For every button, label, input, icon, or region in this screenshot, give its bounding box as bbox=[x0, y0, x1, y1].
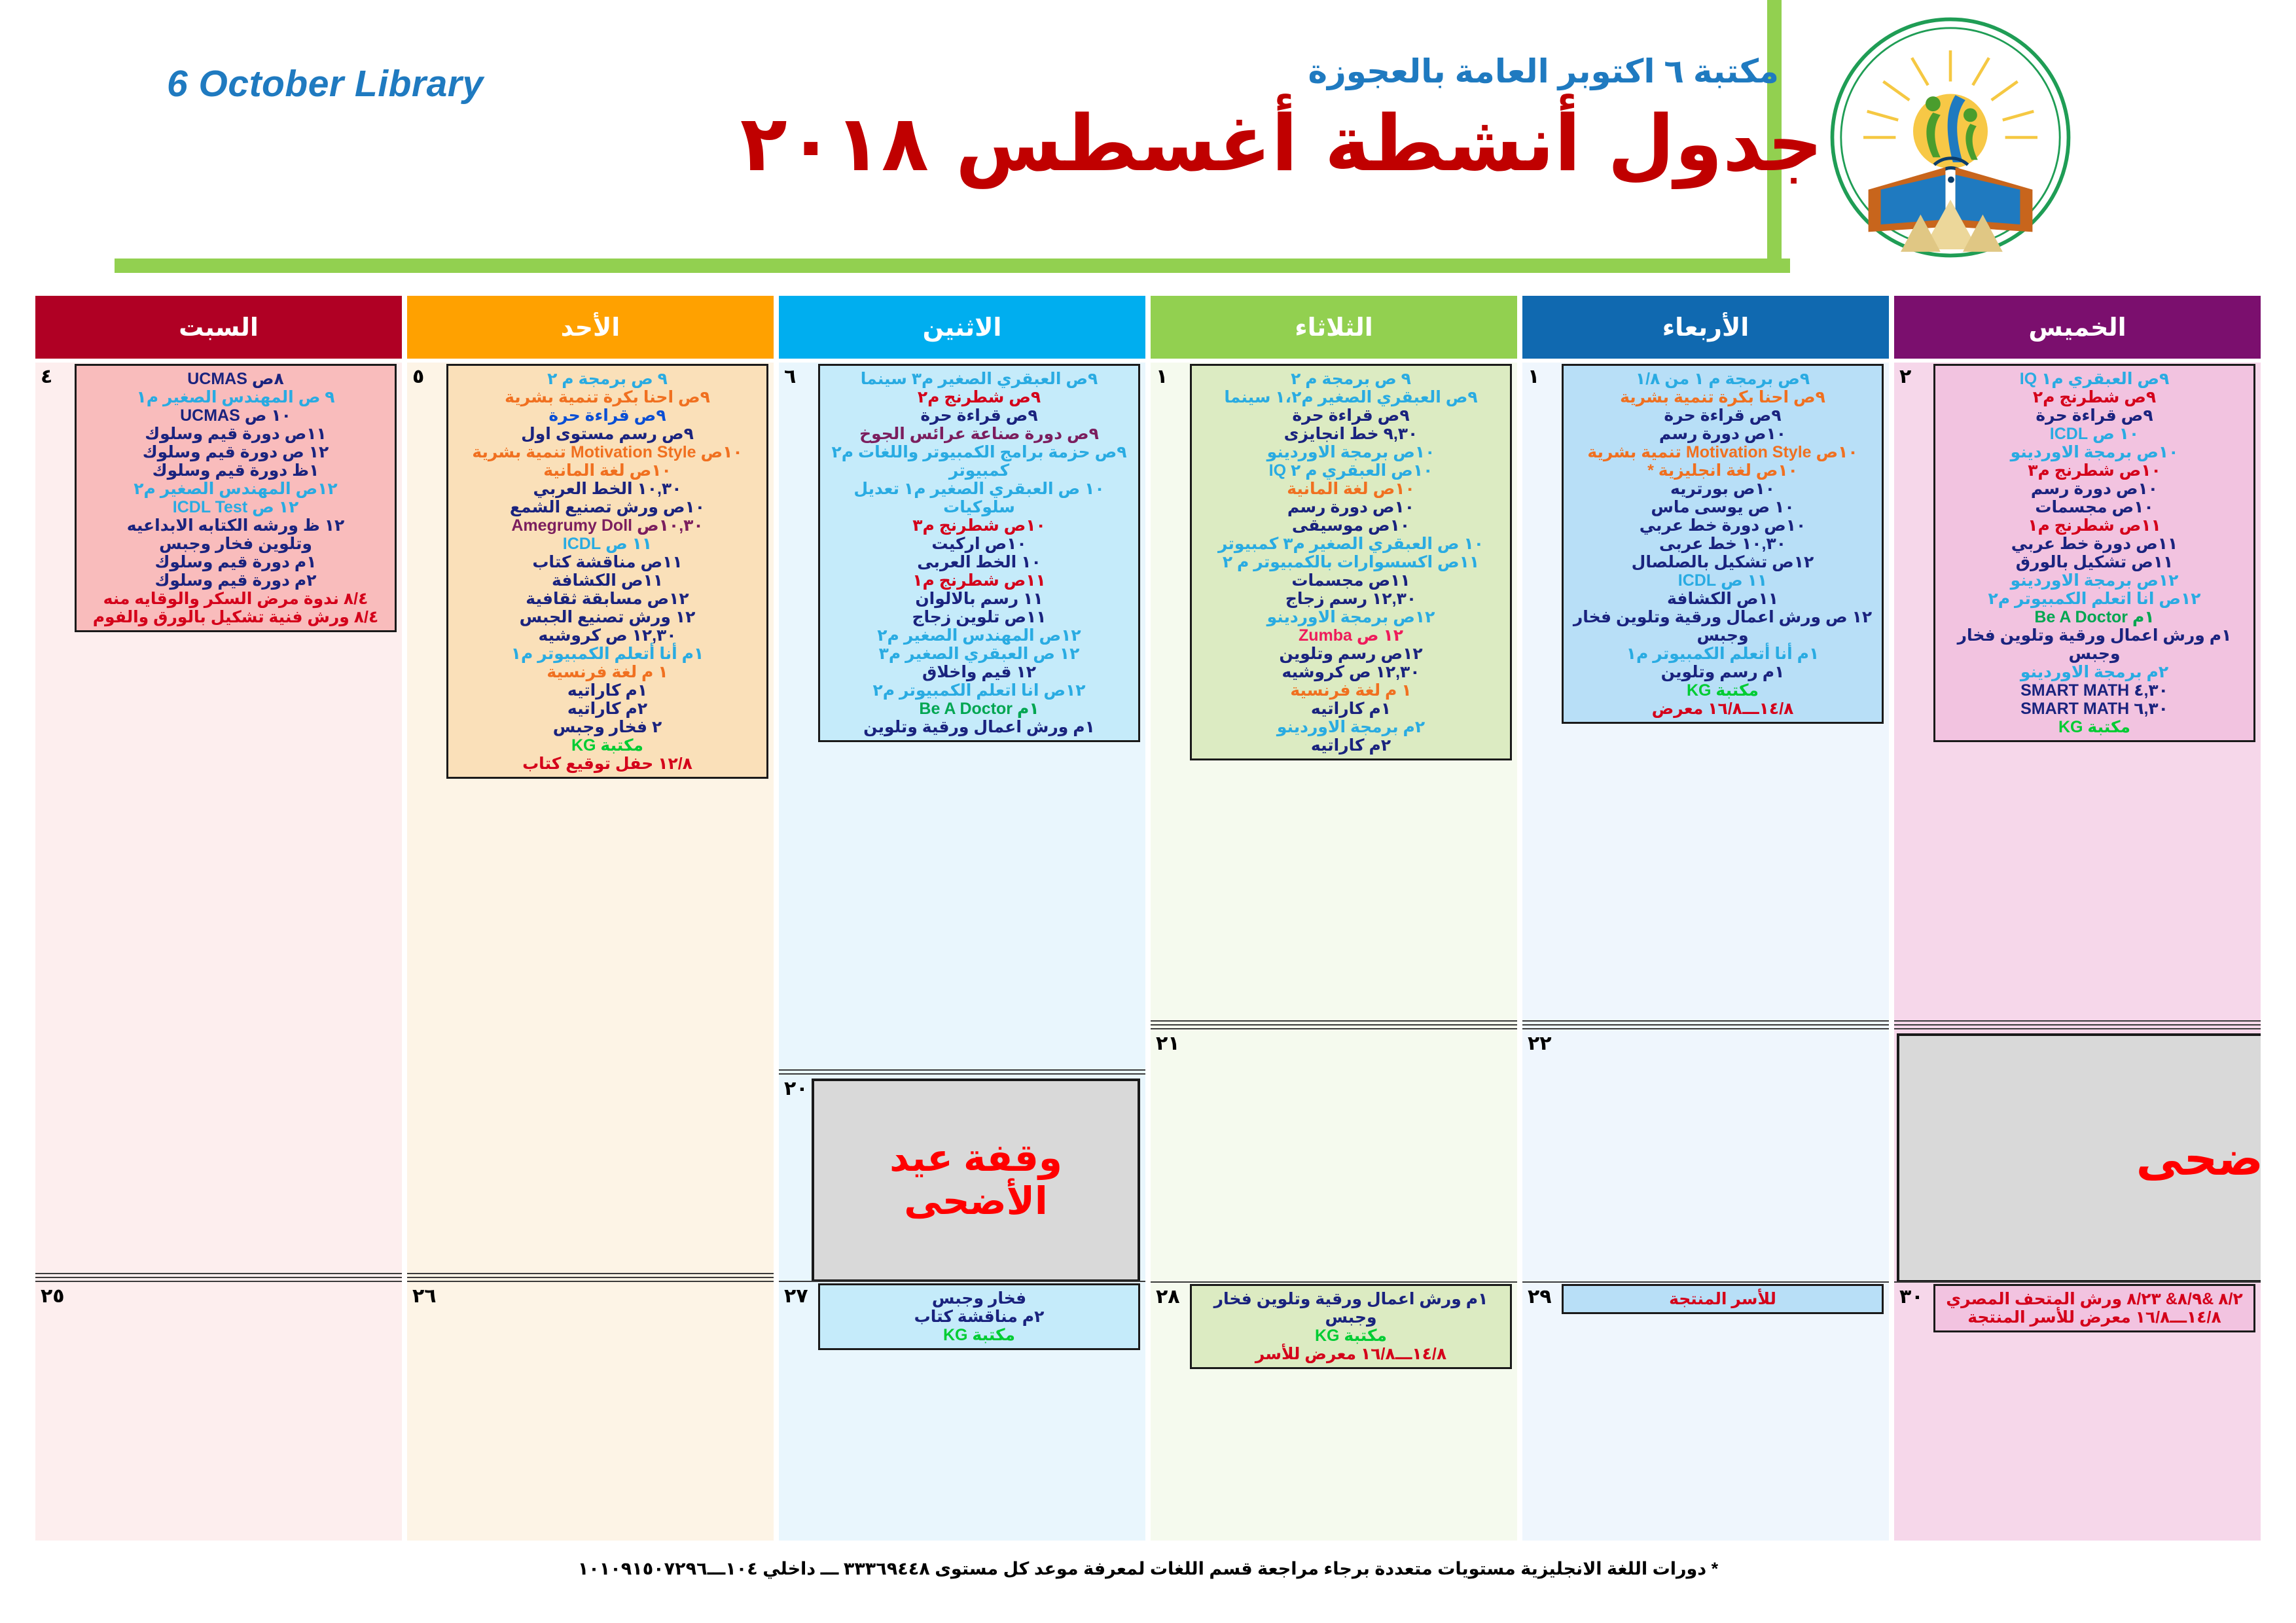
day-number: ١ bbox=[1528, 365, 1539, 388]
calendar-cell-sunday-٥[interactable]: ٥٩ ص برمجة م ٢٩ص احنا بكرة تنمية بشرية٩ص… bbox=[407, 363, 774, 1273]
activity-item: ٦,٣٠ SMART MATH bbox=[1942, 700, 2247, 718]
activity-item: ١٢ص برمجة الاوردينو bbox=[1198, 608, 1503, 626]
activity-item: ٢م كاراتيه bbox=[1198, 736, 1503, 755]
day-number: ٢٨ bbox=[1156, 1285, 1180, 1308]
day-header-label: الأربعاء bbox=[1662, 313, 1749, 342]
activity-item: ٩ص قراءة حرة bbox=[1942, 406, 2247, 425]
activity-item: ٩ص احنا بكرة تنمية بشرية bbox=[455, 388, 760, 406]
activity-item: ١١ص اكسسوارات بالكمبيوتر م ٢ bbox=[1198, 553, 1503, 571]
activity-item: ١٠,٣٠ص Amegrumy Doll bbox=[455, 516, 760, 535]
page-title: جدول أنشطة أغسطس ٢٠١٨ bbox=[660, 98, 1903, 188]
activity-item: ١١ ص ICDL bbox=[1570, 571, 1875, 590]
activity-list: ٩ ص برمجة م ٢٩ص احنا بكرة تنمية بشرية٩ص … bbox=[446, 364, 768, 779]
activity-item: ١٠ص بورتريه bbox=[1570, 480, 1875, 498]
activity-item: ١٠,٣٠ خط عربى bbox=[1570, 535, 1875, 553]
holiday-banner: عيد الأضحى bbox=[1897, 1033, 2261, 1281]
activity-item: ١٢ ص ورش اعمال ورقية وتلوين فخار وجبس bbox=[1570, 608, 1875, 645]
calendar-cell-wednesday-١[interactable]: ١٩ص برمجة م ١ من ١/٨٩ص احنا بكرة تنمية ب… bbox=[1522, 363, 1889, 1020]
activity-item: ٩ ص المهندس الصغير م١ bbox=[83, 388, 388, 406]
activity-item: ٢م كاراتيه bbox=[455, 700, 760, 718]
day-header-row: الخميس الأربعاء الثلاثاء الاثنين الأحد ا… bbox=[33, 296, 2263, 359]
day-header-monday: الاثنين bbox=[779, 296, 1145, 359]
day-header-saturday: السبت bbox=[35, 296, 402, 359]
calendar-column-tuesday: ١٩ ص برمجة م ٢٩ص العبقري الصغير م١،٢ سين… bbox=[1151, 363, 1517, 1541]
activity-item: ١١ص الكشافة bbox=[1570, 590, 1875, 608]
activity-item: مكتبة KG bbox=[827, 1326, 1132, 1344]
activity-item: للأسر المنتجة bbox=[1570, 1290, 1875, 1308]
day-header-label: الأحد bbox=[561, 313, 620, 342]
activity-item: ١٢ ص ICDL Test bbox=[83, 498, 388, 516]
day-header-label: الثلاثاء bbox=[1295, 313, 1373, 342]
activity-item: ٩ص العبقري الصغير م١،٢ سينما bbox=[1198, 388, 1503, 406]
activity-item: ١٠ص Motivation Style تنمية بشرية bbox=[1570, 443, 1875, 461]
calendar-cell-tuesday-٢٨[interactable]: ٢٨١م ورش اعمال ورقية وتلوين فخار وجبسمكت… bbox=[1151, 1281, 1517, 1541]
activity-list: ٩ص برمجة م ١ من ١/٨٩ص احنا بكرة تنمية بش… bbox=[1562, 364, 1884, 724]
organization-logo bbox=[1820, 13, 2081, 262]
calendar-cell-monday-٢٧[interactable]: ٢٧فخار وجبس٢م مناقشة كتابمكتبة KG bbox=[779, 1281, 1145, 1541]
activity-item: ١ظ دورة قيم وسلوك bbox=[83, 461, 388, 480]
day-header-wednesday: الأربعاء bbox=[1522, 296, 1889, 359]
activity-item: ١٢ص برمجة الاوردينو bbox=[1942, 571, 2247, 590]
activity-item: ١م كاراتيه bbox=[455, 681, 760, 700]
activity-item: ١١ص تشكيل بالورق bbox=[1942, 553, 2247, 571]
library-name-english: 6 October Library bbox=[167, 62, 484, 105]
activity-item: ١١ رسم بالالوان bbox=[827, 590, 1132, 608]
calendar-column-thursday: ٢٩ص العبقري م١ IQ٩ص شطرنج م٢٩ص قراءة حرة… bbox=[1894, 363, 2261, 1541]
header-green-divider bbox=[115, 259, 1790, 273]
activity-item: ١م ورش اعمال ورقية وتلوين فخار وجبس bbox=[1942, 626, 2247, 663]
activity-item: ٩ص العبقري م١ IQ bbox=[1942, 370, 2247, 388]
activity-item: ١٢ ظ ورشه الكتابه الابداعيه bbox=[83, 516, 388, 535]
activity-list: ٨ص UCMAS٩ ص المهندس الصغير م١١٠ ص UCMAS١… bbox=[75, 364, 397, 632]
activity-item: ١ م لغة فرنسية bbox=[455, 663, 760, 681]
activity-item: وتلوين فخار وجبس bbox=[83, 535, 388, 553]
activity-item: ١٠ص العبقري م ٢ IQ bbox=[1198, 461, 1503, 480]
day-header-label: الاثنين bbox=[923, 313, 1002, 342]
activity-item: ٩ص قراءة حرة bbox=[1198, 406, 1503, 425]
activity-item: ١م دورة قيم وسلوك bbox=[83, 553, 388, 571]
activity-item: ١١ص مناقشة كتاب bbox=[455, 553, 760, 571]
activity-item: مكتبة KG bbox=[455, 736, 760, 755]
activity-item: ٩ ص برمجة م ٢ bbox=[455, 370, 760, 388]
activity-item: ٢م برمجة الاوردينو bbox=[1198, 718, 1503, 736]
calendar-cell-wednesday-٢٢[interactable]: ٢٢ bbox=[1522, 1028, 1889, 1281]
activity-item: ١٤/٨ـــ١٦/٨ معرض bbox=[1570, 700, 1875, 718]
calendar-cell-saturday-٤[interactable]: ٤٨ص UCMAS٩ ص المهندس الصغير م١١٠ ص UCMAS… bbox=[35, 363, 402, 1273]
activity-item: ٩ص حزمة برامج الكمبيوتر واللغات م٢ كمبيو… bbox=[827, 443, 1132, 480]
calendar-cell-monday-٦[interactable]: ٦٩ص العبقري الصغير م٣ سينما٩ص شطرنج م٢٩ص… bbox=[779, 363, 1145, 1069]
activity-item: ١٠,٣٠ الخط العربي bbox=[455, 480, 760, 498]
activity-item: ٢ فخار وجبس bbox=[455, 718, 760, 736]
activity-list: ٨/٢ &٨/٩& ٨/٢٣ ورش المتحف المصري١٤/٨ـــ١… bbox=[1933, 1284, 2255, 1332]
activity-item: مكتبة KG bbox=[1198, 1327, 1503, 1345]
activity-item: ١١ ص ICDL bbox=[455, 535, 760, 553]
activity-item: ٩ص شطرنج م٢ bbox=[1942, 388, 2247, 406]
day-number: ٤ bbox=[41, 365, 52, 388]
activity-item: ٨/٢ &٨/٩& ٨/٢٣ ورش المتحف المصري bbox=[1942, 1290, 2247, 1308]
calendar-columns: ٢٩ص العبقري م١ IQ٩ص شطرنج م٢٩ص قراءة حرة… bbox=[33, 363, 2263, 1541]
activity-item: ١م أنا أتعلم الكمبيوتر م١ bbox=[455, 645, 760, 663]
activity-item: ٤,٣٠ SMART MATH bbox=[1942, 681, 2247, 700]
activity-item: ١٢ قيم واخلاق bbox=[827, 663, 1132, 681]
activity-item: ١٤/٨ـــ١٦/٨ معرض للأسر bbox=[1198, 1345, 1503, 1363]
calendar-cell-thursday-٣٠[interactable]: ٣٠٨/٢ &٨/٩& ٨/٢٣ ورش المتحف المصري١٤/٨ــ… bbox=[1894, 1281, 2261, 1541]
activity-item: ٩ص احنا بكرة تنمية بشرية bbox=[1570, 388, 1875, 406]
activity-list: ٩ص العبقري الصغير م٣ سينما٩ص شطرنج م٢٩ص … bbox=[818, 364, 1140, 742]
activity-item: ٩ص برمجة م ١ من ١/٨ bbox=[1570, 370, 1875, 388]
activity-item: ١١ص دورة قيم وسلوك bbox=[83, 425, 388, 443]
day-number: ٢١ bbox=[1156, 1032, 1180, 1055]
activity-item: ١٠ص برمجة الاوردينو bbox=[1942, 443, 2247, 461]
activity-item: ١٤/٨ـــ١٦/٨ معرض للأسر المنتجة bbox=[1942, 1308, 2247, 1327]
activity-item: ٩ ص برمجة م ٢ bbox=[1198, 370, 1503, 388]
activity-calendar: الخميس الأربعاء الثلاثاء الاثنين الأحد ا… bbox=[33, 296, 2263, 1541]
activity-item: ١٠ص Motivation Style تنمية بشرية bbox=[455, 443, 760, 461]
activity-item: ١٢ص مسابقة ثقافية bbox=[455, 590, 760, 608]
activity-item: ١٠ص لغة المانية bbox=[1198, 480, 1503, 498]
footer-note: * دورات اللغة الانجليزية مستويات متعددة … bbox=[0, 1559, 2296, 1579]
activity-list: ٩ ص برمجة م ٢٩ص العبقري الصغير م١،٢ سينم… bbox=[1190, 364, 1512, 760]
calendar-cell-tuesday-١[interactable]: ١٩ ص برمجة م ٢٩ص العبقري الصغير م١،٢ سين… bbox=[1151, 363, 1517, 1020]
activity-list: فخار وجبس٢م مناقشة كتابمكتبة KG bbox=[818, 1283, 1140, 1350]
activity-item: ٩ص شطرنج م٢ bbox=[827, 388, 1132, 406]
day-header-label: السبت bbox=[179, 313, 259, 342]
activity-item: ١م ورش اعمال ورقية وتلوين فخار وجبس bbox=[1198, 1290, 1503, 1327]
activity-item: ١٢ص انا اتعلم الكمبيوتر م٢ bbox=[827, 681, 1132, 700]
activity-item: ١٢,٣٠ ص كروشيه bbox=[455, 626, 760, 645]
day-number: ٣٠ bbox=[1899, 1285, 1924, 1308]
day-number: ٢٥ bbox=[41, 1285, 65, 1308]
activity-item: ١٠ص شطرنج م٣ bbox=[827, 516, 1132, 535]
activity-item: ٩ص رسم مستوى اول bbox=[455, 425, 760, 443]
day-number: ٢٢ bbox=[1528, 1032, 1552, 1055]
activity-item: ١٠ ص ICDL bbox=[1942, 425, 2247, 443]
day-number: ٢٧ bbox=[784, 1285, 808, 1308]
calendar-cell-sunday-٢٦[interactable]: ٢٦ bbox=[407, 1281, 774, 1541]
activity-item: ١٢ص المهندس الصغير م٢ bbox=[83, 480, 388, 498]
activity-item: ١م أنا أتعلم الكمبيوتر م١ bbox=[1570, 645, 1875, 663]
activity-item: ٨/٤ ندوة مرض السكر والوقايه منه bbox=[83, 590, 388, 608]
holiday-banner: وقفة عيد الأضحى bbox=[812, 1079, 1140, 1281]
page-header: 6 October Library مكتبة ٦ اكتوبر العامة … bbox=[0, 0, 2296, 275]
activity-item: ١٢ ورش تصنيع الجبس bbox=[455, 608, 760, 626]
day-header-tuesday: الثلاثاء bbox=[1151, 296, 1517, 359]
activity-item: ١م كاراتيه bbox=[1198, 700, 1503, 718]
day-header-thursday: الخميس bbox=[1894, 296, 2261, 359]
activity-item: ٢م برمجة الاوردينو bbox=[1942, 663, 2247, 681]
calendar-cell-saturday-٢٥[interactable]: ٢٥ bbox=[35, 1281, 402, 1541]
activity-item: ١٠ص ورش تصنيع الشمع bbox=[455, 498, 760, 516]
calendar-column-saturday: ٤٨ص UCMAS٩ ص المهندس الصغير م١١٠ ص UCMAS… bbox=[35, 363, 402, 1541]
activity-item: ١١ص تلوين زجاج bbox=[827, 608, 1132, 626]
activity-item: ١٠ص دورة خط عربي bbox=[1570, 516, 1875, 535]
calendar-cell-thursday-٢[interactable]: ٢٩ص العبقري م١ IQ٩ص شطرنج م٢٩ص قراءة حرة… bbox=[1894, 363, 2261, 1020]
activity-item: ١٠ص لغة انجليزية * bbox=[1570, 461, 1875, 480]
activity-item: ٩ص العبقري الصغير م٣ سينما bbox=[827, 370, 1132, 388]
activity-item: ٨ص UCMAS bbox=[83, 370, 388, 388]
calendar-column-sunday: ٥٩ ص برمجة م ٢٩ص احنا بكرة تنمية بشرية٩ص… bbox=[407, 363, 774, 1541]
calendar-cell-monday-٢٠[interactable]: ٢٠وقفة عيد الأضحى bbox=[779, 1073, 1145, 1281]
activity-item: ١٠ ص العبقري الصغير م١ تعديل سلوكيات bbox=[827, 480, 1132, 516]
activity-item: ١٠ص شطرنج م٣ bbox=[1942, 461, 2247, 480]
activity-item: ١٠ ص يوسى ماس bbox=[1570, 498, 1875, 516]
activity-list: ٩ص العبقري م١ IQ٩ص شطرنج م٢٩ص قراءة حرة١… bbox=[1933, 364, 2255, 742]
activity-item: ١٠ ص العبقري الصغير م٣ كمبيوتر bbox=[1198, 535, 1503, 553]
activity-item: ١٠ص دورة رسم bbox=[1942, 480, 2247, 498]
day-number: ٢ bbox=[1899, 365, 1911, 388]
activity-item: ١٠ص دورة رسم bbox=[1198, 498, 1503, 516]
library-name-arabic: مكتبة ٦ اكتوبر العامة بالعجوزة bbox=[1308, 52, 1779, 90]
activity-item: ٩ص قراءة حرة bbox=[827, 406, 1132, 425]
activity-item: مكتبة KG bbox=[1570, 681, 1875, 700]
activity-list: ١م ورش اعمال ورقية وتلوين فخار وجبسمكتبة… bbox=[1190, 1284, 1512, 1369]
calendar-cell-thursday-٢٣[interactable]: ٢٣عيد الأضحى bbox=[1894, 1028, 2261, 1281]
activity-item: ١٢ص تشكيل بالصلصال bbox=[1570, 553, 1875, 571]
activity-item: ١١ص شطرنج م١ bbox=[827, 571, 1132, 590]
activity-item: ٢م دورة قيم وسلوك bbox=[83, 571, 388, 590]
day-number: ٥ bbox=[412, 365, 424, 388]
activity-item: ١٢ص المهندس الصغير م٢ bbox=[827, 626, 1132, 645]
activity-item: ١١ص الكشافة bbox=[455, 571, 760, 590]
activity-item: ١٠ص اركيت bbox=[827, 535, 1132, 553]
calendar-cell-wednesday-٢٩[interactable]: ٢٩للأسر المنتجة bbox=[1522, 1281, 1889, 1541]
activity-item: ١١ص دورة خط عربي bbox=[1942, 535, 2247, 553]
activity-item: ١م رسم وتلوين bbox=[1570, 663, 1875, 681]
activity-item: فخار وجبس bbox=[827, 1289, 1132, 1308]
activity-item: ١٠ الخط العربى bbox=[827, 553, 1132, 571]
calendar-column-monday: ٦٩ص العبقري الصغير م٣ سينما٩ص شطرنج م٢٩ص… bbox=[779, 363, 1145, 1541]
activity-item: ٢م مناقشة كتاب bbox=[827, 1308, 1132, 1326]
activity-item: ١٠ص لغة المانية bbox=[455, 461, 760, 480]
activity-item: ١م Be A Doctor bbox=[1942, 608, 2247, 626]
activity-item: مكتبة KG bbox=[1942, 718, 2247, 736]
activity-item: ١٢ ص دورة قيم وسلوك bbox=[83, 443, 388, 461]
day-number: ٢٩ bbox=[1528, 1285, 1552, 1308]
day-number: ١ bbox=[1156, 365, 1168, 388]
activity-item: ١٠ص دورة رسم bbox=[1570, 425, 1875, 443]
activity-item: ١ م لغة فرنسية bbox=[1198, 681, 1503, 700]
calendar-column-wednesday: ١٩ص برمجة م ١ من ١/٨٩ص احنا بكرة تنمية ب… bbox=[1522, 363, 1889, 1541]
activity-item: ١٠ص برمجة الاوردينو bbox=[1198, 443, 1503, 461]
activity-item: ١٠ص مجسمات bbox=[1942, 498, 2247, 516]
activity-item: ١١ص مجسمات bbox=[1198, 571, 1503, 590]
activity-item: ١٢ ص العبقري الصغير م٣ bbox=[827, 645, 1132, 663]
activity-item: ١م Be A Doctor bbox=[827, 700, 1132, 718]
activity-list: للأسر المنتجة bbox=[1562, 1284, 1884, 1314]
activity-item: ٩ص قراءة حرة bbox=[1570, 406, 1875, 425]
activity-item: ٩ص قراءة حرة bbox=[455, 406, 760, 425]
day-header-sunday: الأحد bbox=[407, 296, 774, 359]
activity-item: ١١ص شطرنج م١ bbox=[1942, 516, 2247, 535]
activity-item: ١٢,٣٠ رسم زجاج bbox=[1198, 590, 1503, 608]
calendar-cell-tuesday-٢١[interactable]: ٢١ bbox=[1151, 1028, 1517, 1281]
activity-item: ١٢/٨ حفل توقيع كتاب bbox=[455, 755, 760, 773]
day-header-label: الخميس bbox=[2028, 313, 2126, 342]
activity-item: ١٢ ص Zumba bbox=[1198, 626, 1503, 645]
day-number: ٦ bbox=[784, 365, 796, 388]
activity-item: ١٢ص انا اتعلم الكمبيوتر م٢ bbox=[1942, 590, 2247, 608]
activity-item: ١٢,٣٠ ص كروشيه bbox=[1198, 663, 1503, 681]
activity-item: ١م ورش اعمال ورقية وتلوين bbox=[827, 718, 1132, 736]
activity-item: ١٠ص موسيقى bbox=[1198, 516, 1503, 535]
activity-item: ١٢ص رسم وتلوين bbox=[1198, 645, 1503, 663]
activity-item: ٩ص دورة صناعة عرائس الجوخ bbox=[827, 425, 1132, 443]
day-number: ٢٦ bbox=[412, 1285, 437, 1308]
activity-item: ٨/٤ ورش فنية تشكيل بالورق والفوم bbox=[83, 608, 388, 626]
activity-item: ٩,٣٠ خط انجايزى bbox=[1198, 425, 1503, 443]
day-number: ٢٠ bbox=[784, 1077, 808, 1100]
activity-item: ١٠ ص UCMAS bbox=[83, 406, 388, 425]
